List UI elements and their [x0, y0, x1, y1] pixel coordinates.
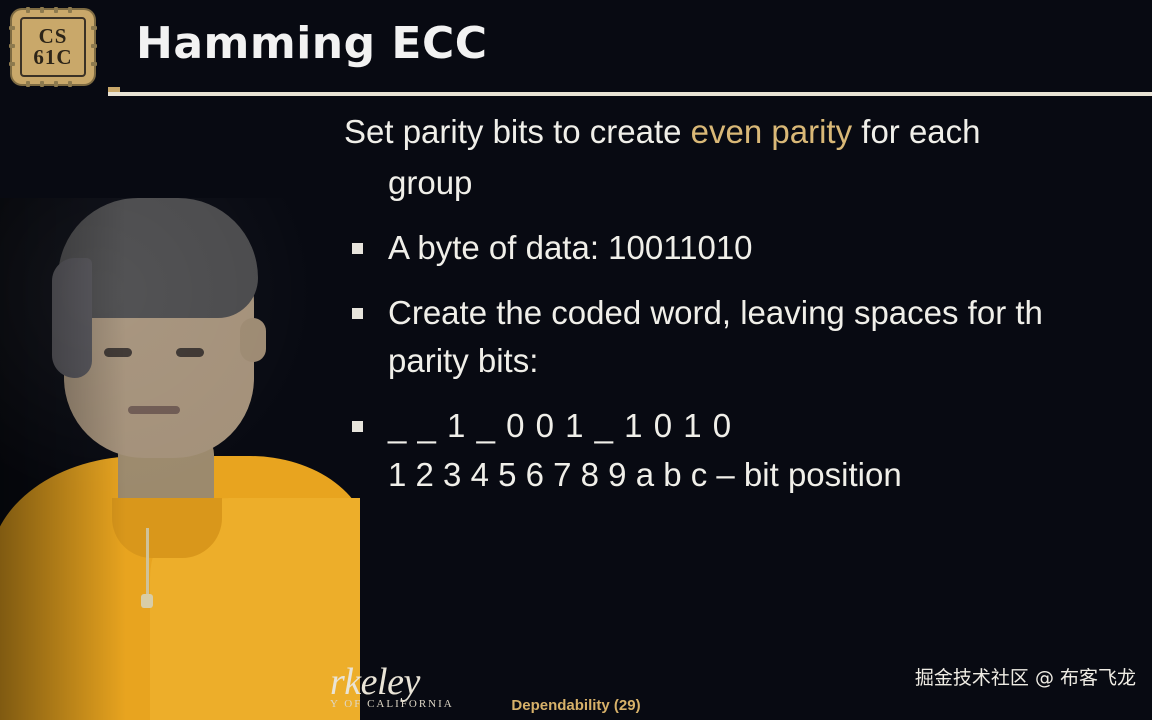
- presenter-hair-side: [52, 258, 92, 378]
- title-rule: [108, 92, 1152, 96]
- coded-word-bits: _ _ 1 _ 0 0 1 _ 1 0 1 0: [388, 400, 1152, 451]
- footer-section: Dependability: [511, 697, 609, 714]
- presenter-collar: [112, 498, 222, 558]
- slide-body: Set parity bits to create even parity fo…: [344, 106, 1152, 500]
- presenter-mouth: [128, 406, 180, 414]
- presenter-eye-left: [104, 348, 132, 357]
- bullet-list: A byte of data: 10011010 Create the code…: [344, 222, 1152, 500]
- list-item: A byte of data: 10011010: [344, 222, 1152, 273]
- lead-indent: group: [344, 157, 1152, 208]
- lead-paragraph: Set parity bits to create even parity fo…: [344, 106, 1152, 208]
- page-title: Hamming ECC: [136, 18, 488, 69]
- slide-footer: Dependability (29): [0, 697, 1152, 714]
- presenter-ear: [240, 318, 266, 362]
- list-item: _ _ 1 _ 0 0 1 _ 1 0 1 0 1 2 3 4 5 6 7 8 …: [344, 400, 1152, 500]
- footer-page-number: (29): [614, 697, 641, 714]
- watermark: 掘金技术社区 @ 布客飞龙: [915, 663, 1136, 690]
- presenter-necklace-pendant: [141, 594, 153, 608]
- bullet-text: A byte of data: 10011010: [388, 222, 1152, 273]
- lead-part-2: for each: [852, 113, 980, 150]
- lead-part-1: Set parity bits to create: [344, 113, 691, 150]
- presenter-necklace-chain: [146, 528, 149, 598]
- slide-root: CS 61C Hamming ECC Set parity bits to cr…: [0, 0, 1152, 720]
- bullet-continuation: parity bits:: [388, 335, 1152, 386]
- list-item: Create the coded word, leaving spaces fo…: [344, 287, 1152, 385]
- bullet-text: Create the coded word, leaving spaces fo…: [388, 287, 1152, 338]
- presenter-eye-right: [176, 348, 204, 357]
- logo-line-2: 61C: [33, 47, 72, 68]
- logo-text: CS 61C: [20, 17, 86, 77]
- cs61c-logo: CS 61C: [12, 10, 94, 84]
- presenter-video: [0, 198, 360, 720]
- bit-position-line: 1 2 3 4 5 6 7 8 9 a b c – bit position: [388, 449, 1152, 500]
- lead-accent: even parity: [691, 113, 852, 150]
- logo-line-1: CS: [39, 26, 68, 47]
